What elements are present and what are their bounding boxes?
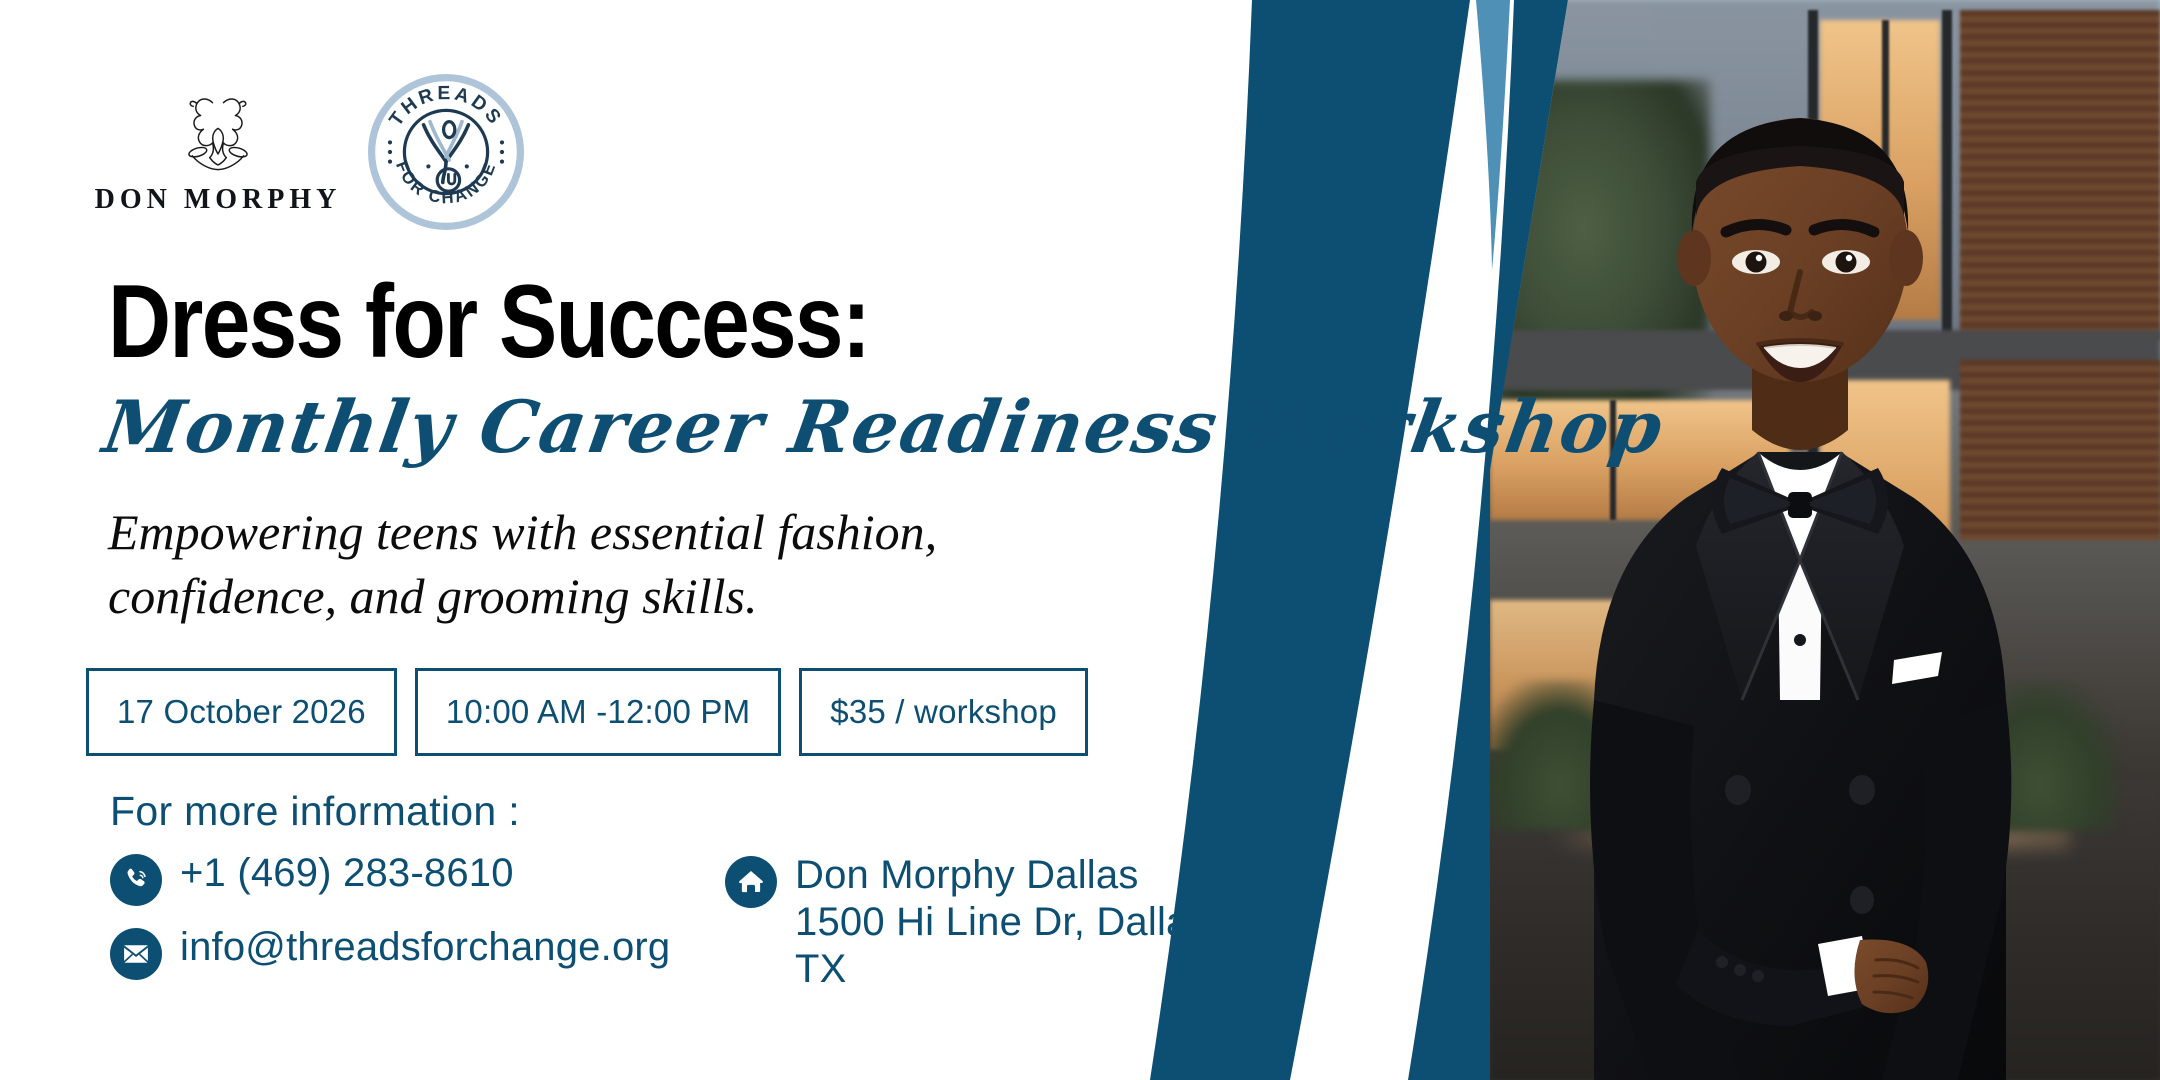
eye-right	[1822, 250, 1870, 274]
more-information-heading: For more information :	[110, 788, 520, 835]
nostril-left	[1779, 311, 1793, 321]
contact-column-left: +1 (469) 283-8610 info@threadsforchange.…	[110, 850, 670, 980]
phone-icon	[110, 854, 162, 906]
headline-script-subtitle: Monthly Career Readiness Workshop	[95, 385, 1670, 469]
description-line-1: Empowering teens with essential fashion,	[108, 500, 1008, 564]
shirt-stud	[1794, 634, 1806, 646]
don-morphy-logo: DON MORPHY	[108, 88, 328, 216]
headline-title: Dress for Success:	[108, 270, 869, 374]
nostril-right	[1808, 311, 1822, 321]
home-icon	[725, 856, 777, 908]
phone-row[interactable]: +1 (469) 283-8610	[110, 850, 670, 906]
person-in-tuxedo	[1490, 0, 2160, 1080]
envelope-icon	[110, 928, 162, 980]
headline-script-subtitle-wrap: Monthly Career Readiness Workshop	[108, 380, 1288, 480]
threads-for-change-badge: THREADS FOR CHANGE	[366, 72, 526, 232]
don-morphy-wordmark: DON MORPHY	[95, 184, 342, 216]
ear-left	[1677, 230, 1711, 286]
event-banner: DON MORPHY	[0, 0, 2160, 1080]
logo-row: DON MORPHY	[108, 72, 526, 232]
venue-block: Don Morphy Dallas1500 Hi Line Dr, Dallas…	[795, 852, 1240, 994]
venue-address: 1500 Hi Line Dr, Dallas, TX	[795, 900, 1220, 991]
email-row[interactable]: info@threadsforchange.org	[110, 924, 670, 980]
venue-name: Don Morphy Dallas	[795, 853, 1139, 897]
price-box[interactable]: $35 / workshop	[799, 668, 1088, 756]
date-box[interactable]: 17 October 2026	[86, 668, 397, 756]
phone-number: +1 (469) 283-8610	[180, 850, 514, 897]
time-box[interactable]: 10:00 AM -12:00 PM	[415, 668, 781, 756]
eye-left	[1732, 250, 1780, 274]
contact-column-right: Don Morphy Dallas1500 Hi Line Dr, Dallas…	[725, 852, 1240, 994]
event-photo	[1490, 0, 2160, 1080]
venue-row[interactable]: Don Morphy Dallas1500 Hi Line Dr, Dallas…	[725, 852, 1240, 994]
email-address: info@threadsforchange.org	[180, 924, 670, 971]
ear-right	[1889, 230, 1923, 286]
event-description: Empowering teens with essential fashion,…	[108, 500, 1008, 628]
event-details-boxes: 17 October 2026 10:00 AM -12:00 PM $35 /…	[86, 668, 1088, 756]
seahorse-crest-icon	[172, 88, 264, 176]
description-line-2: confidence, and grooming skills.	[108, 564, 1008, 628]
banner-content: DON MORPHY	[0, 0, 1260, 1080]
